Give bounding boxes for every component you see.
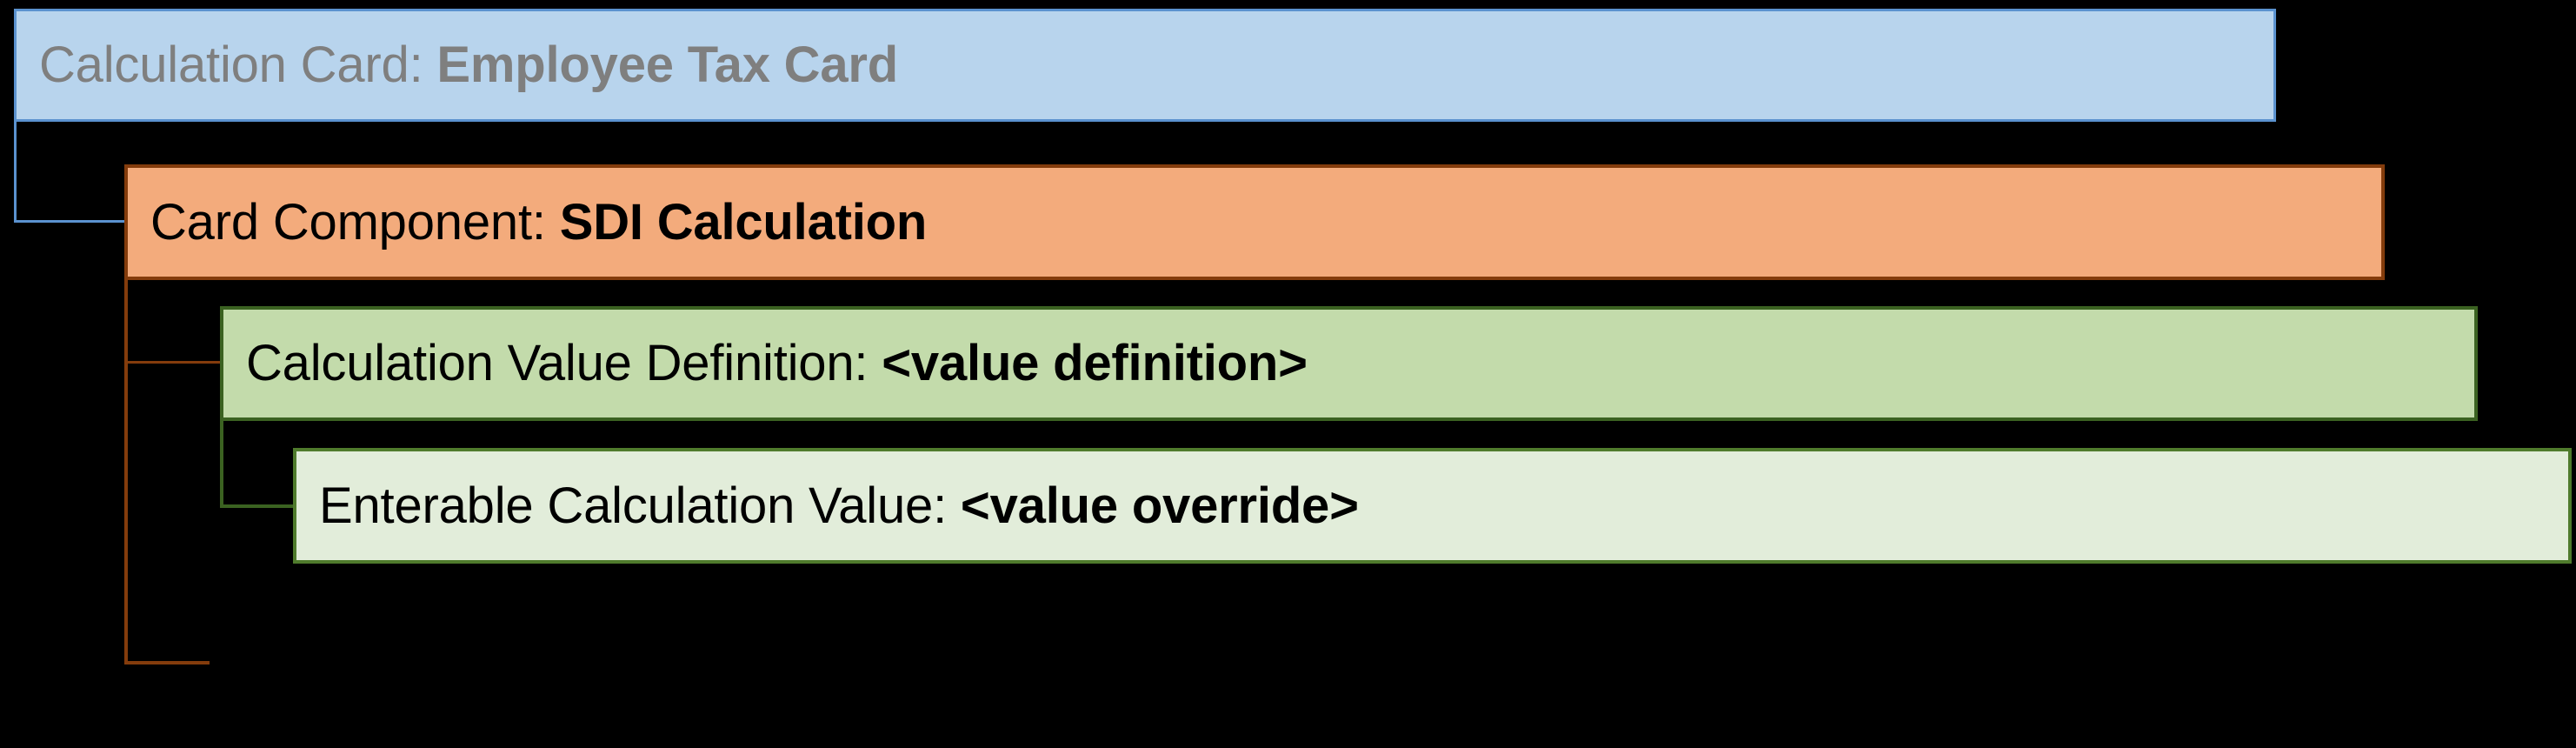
node-card-component[interactable]: Card Component: SDI Calculation (124, 164, 2385, 280)
connector-component-trunk-vertical (124, 277, 128, 665)
connector-component-to-definition-horizontal (124, 361, 223, 364)
node-card-component-label: Card Component: SDI Calculation (150, 197, 927, 248)
connector-card-to-component-vertical (14, 119, 17, 223)
node-enterable-calculation-value[interactable]: Enterable Calculation Value: <value over… (293, 448, 2572, 564)
node-calculation-card-prefix: Calculation Card: (39, 37, 436, 93)
node-calculation-value-definition-label: Calculation Value Definition: <value def… (246, 338, 1308, 389)
node-enterable-calculation-value-value: <value override> (961, 478, 1359, 534)
connector-card-to-component-horizontal (14, 220, 127, 223)
node-calculation-value-definition-prefix: Calculation Value Definition: (246, 335, 882, 391)
node-calculation-card-value: Employee Tax Card (436, 37, 898, 93)
connector-definition-to-enterable-vertical (220, 417, 223, 508)
node-card-component-value: SDI Calculation (560, 194, 927, 250)
connector-definition-to-enterable-horizontal (220, 504, 296, 508)
node-calculation-value-definition[interactable]: Calculation Value Definition: <value def… (220, 306, 2478, 421)
connector-component-stub-horizontal (124, 661, 210, 665)
node-calculation-card[interactable]: Calculation Card: Employee Tax Card (14, 9, 2276, 122)
node-calculation-value-definition-value: <value definition> (882, 335, 1308, 391)
node-card-component-prefix: Card Component: (150, 194, 560, 250)
node-enterable-calculation-value-prefix: Enterable Calculation Value: (319, 478, 961, 534)
node-calculation-card-label: Calculation Card: Employee Tax Card (39, 40, 898, 90)
node-enterable-calculation-value-label: Enterable Calculation Value: <value over… (319, 481, 1359, 531)
diagram-canvas: Calculation Card: Employee Tax Card Card… (0, 0, 2576, 748)
